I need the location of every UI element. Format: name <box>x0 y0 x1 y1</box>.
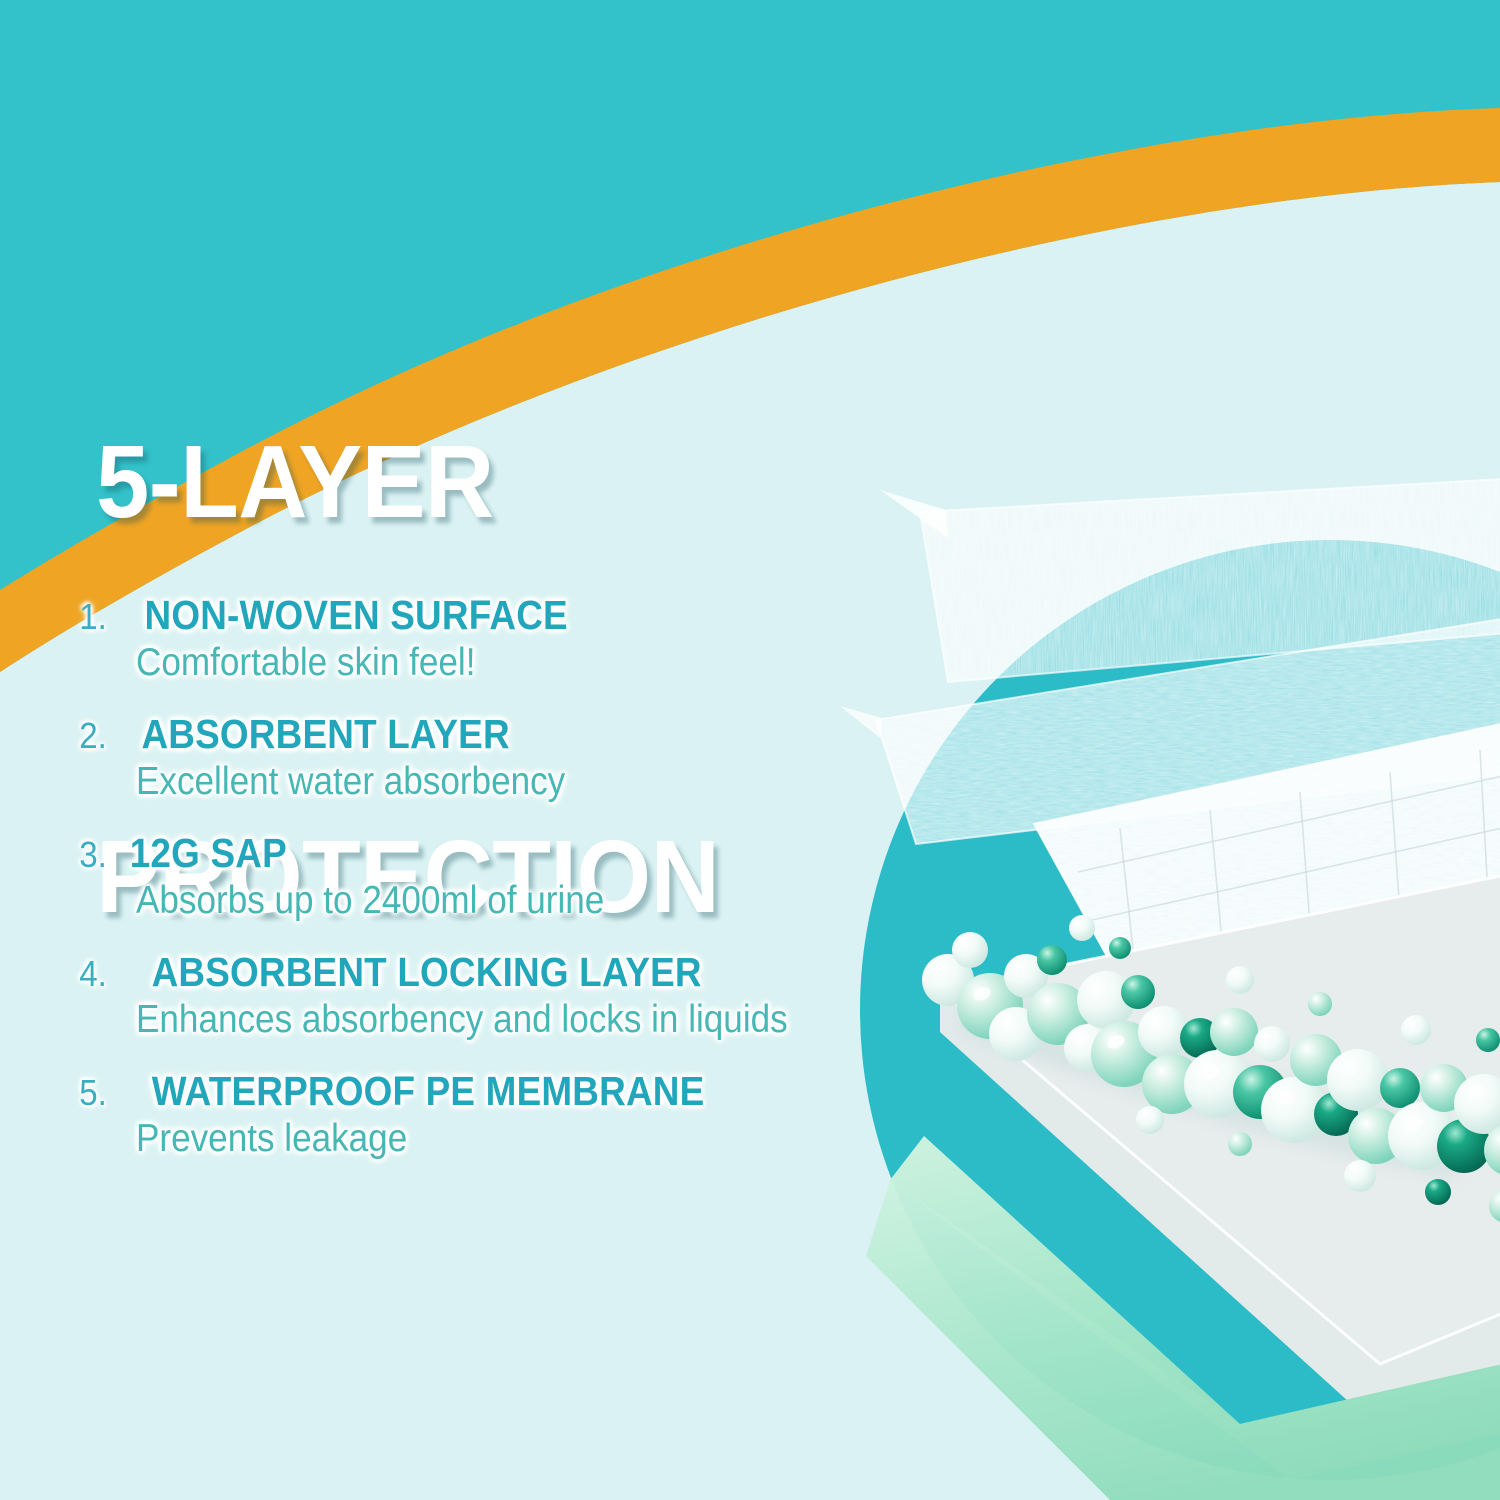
list-item: 5. WATERPROOF PE MEMBRANE Prevents leaka… <box>78 1068 958 1161</box>
feature-title: NON-WOVEN SURFACE <box>145 592 568 639</box>
feature-heading: 5. WATERPROOF PE MEMBRANE <box>78 1068 958 1115</box>
feature-title: 12G SAP <box>130 830 287 877</box>
feature-subtitle: Absorbs up to 2400ml of urine <box>136 879 876 923</box>
list-item: 4. ABSORBENT LOCKING LAYER Enhances abso… <box>78 949 958 1042</box>
feature-subtitle: Prevents leakage <box>136 1117 876 1161</box>
feature-title: WATERPROOF PE MEMBRANE <box>152 1068 705 1115</box>
feature-number: 1. <box>79 596 107 638</box>
feature-number: 2. <box>79 715 107 757</box>
feature-number: 5. <box>79 1072 107 1114</box>
feature-subtitle: Excellent water absorbency <box>136 760 876 804</box>
feature-title: ABSORBENT LOCKING LAYER <box>152 949 702 996</box>
feature-subtitle: Comfortable skin feel! <box>136 641 876 685</box>
feature-number: 4. <box>79 953 107 995</box>
feature-subtitle: Enhances absorbency and locks in liquids <box>136 998 876 1042</box>
page-title-line-1: 5-LAYER <box>96 416 719 548</box>
infographic-poster: 5-LAYER PROTECTION <box>0 0 1500 1500</box>
list-item: 1. NON-WOVEN SURFACE Comfortable skin fe… <box>78 592 958 685</box>
feature-title: ABSORBENT LAYER <box>141 711 509 758</box>
list-item: 3. 12G SAP Absorbs up to 2400ml of urine <box>78 830 958 923</box>
feature-heading: 3. 12G SAP <box>78 830 958 877</box>
feature-heading: 1. NON-WOVEN SURFACE <box>78 592 958 639</box>
list-item: 2. ABSORBENT LAYER Excellent water absor… <box>78 711 958 804</box>
feature-number: 3. <box>79 834 107 876</box>
feature-heading: 4. ABSORBENT LOCKING LAYER <box>78 949 958 996</box>
feature-list: 1. NON-WOVEN SURFACE Comfortable skin fe… <box>78 592 958 1161</box>
feature-heading: 2. ABSORBENT LAYER <box>78 711 958 758</box>
